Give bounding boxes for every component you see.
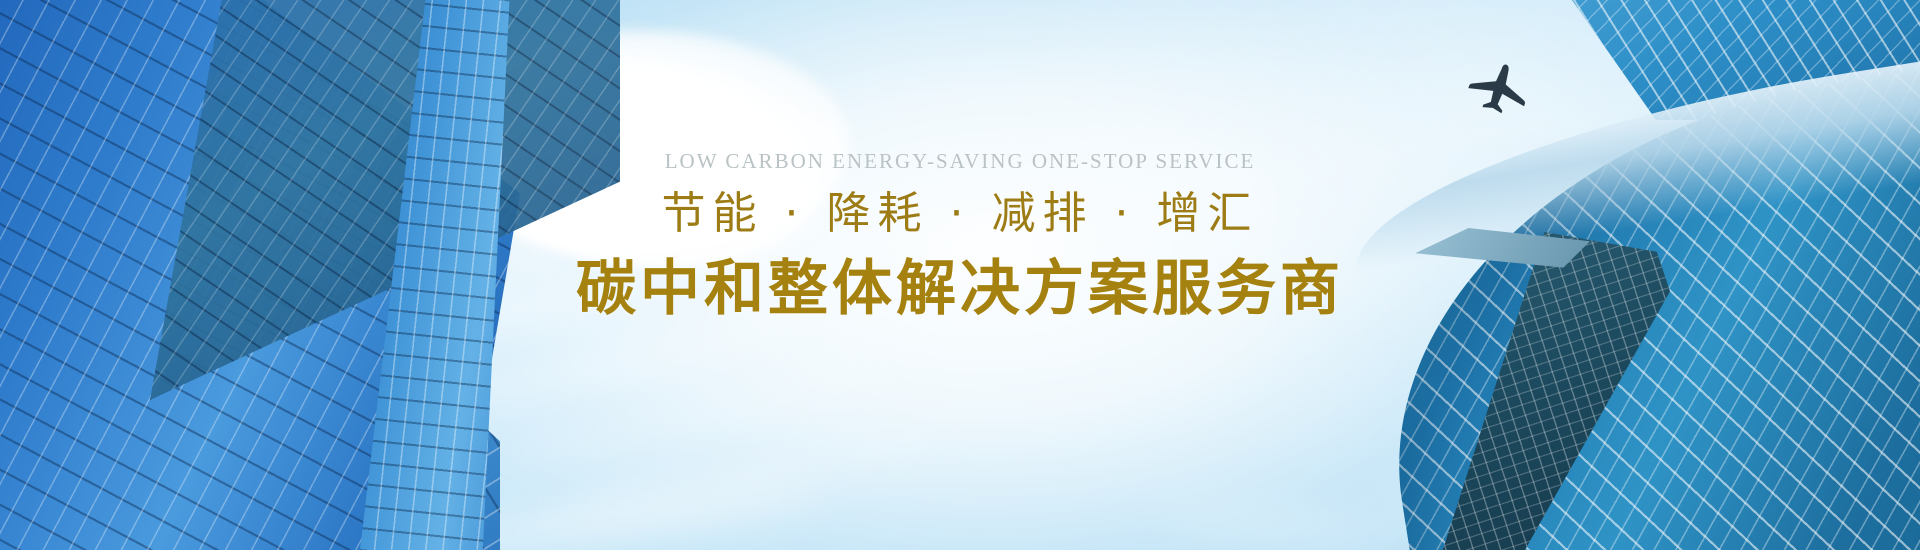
hero-banner: LOW CARBON ENERGY-SAVING ONE-STOP SERVIC… (0, 0, 1920, 550)
airplane-icon (1460, 60, 1540, 122)
